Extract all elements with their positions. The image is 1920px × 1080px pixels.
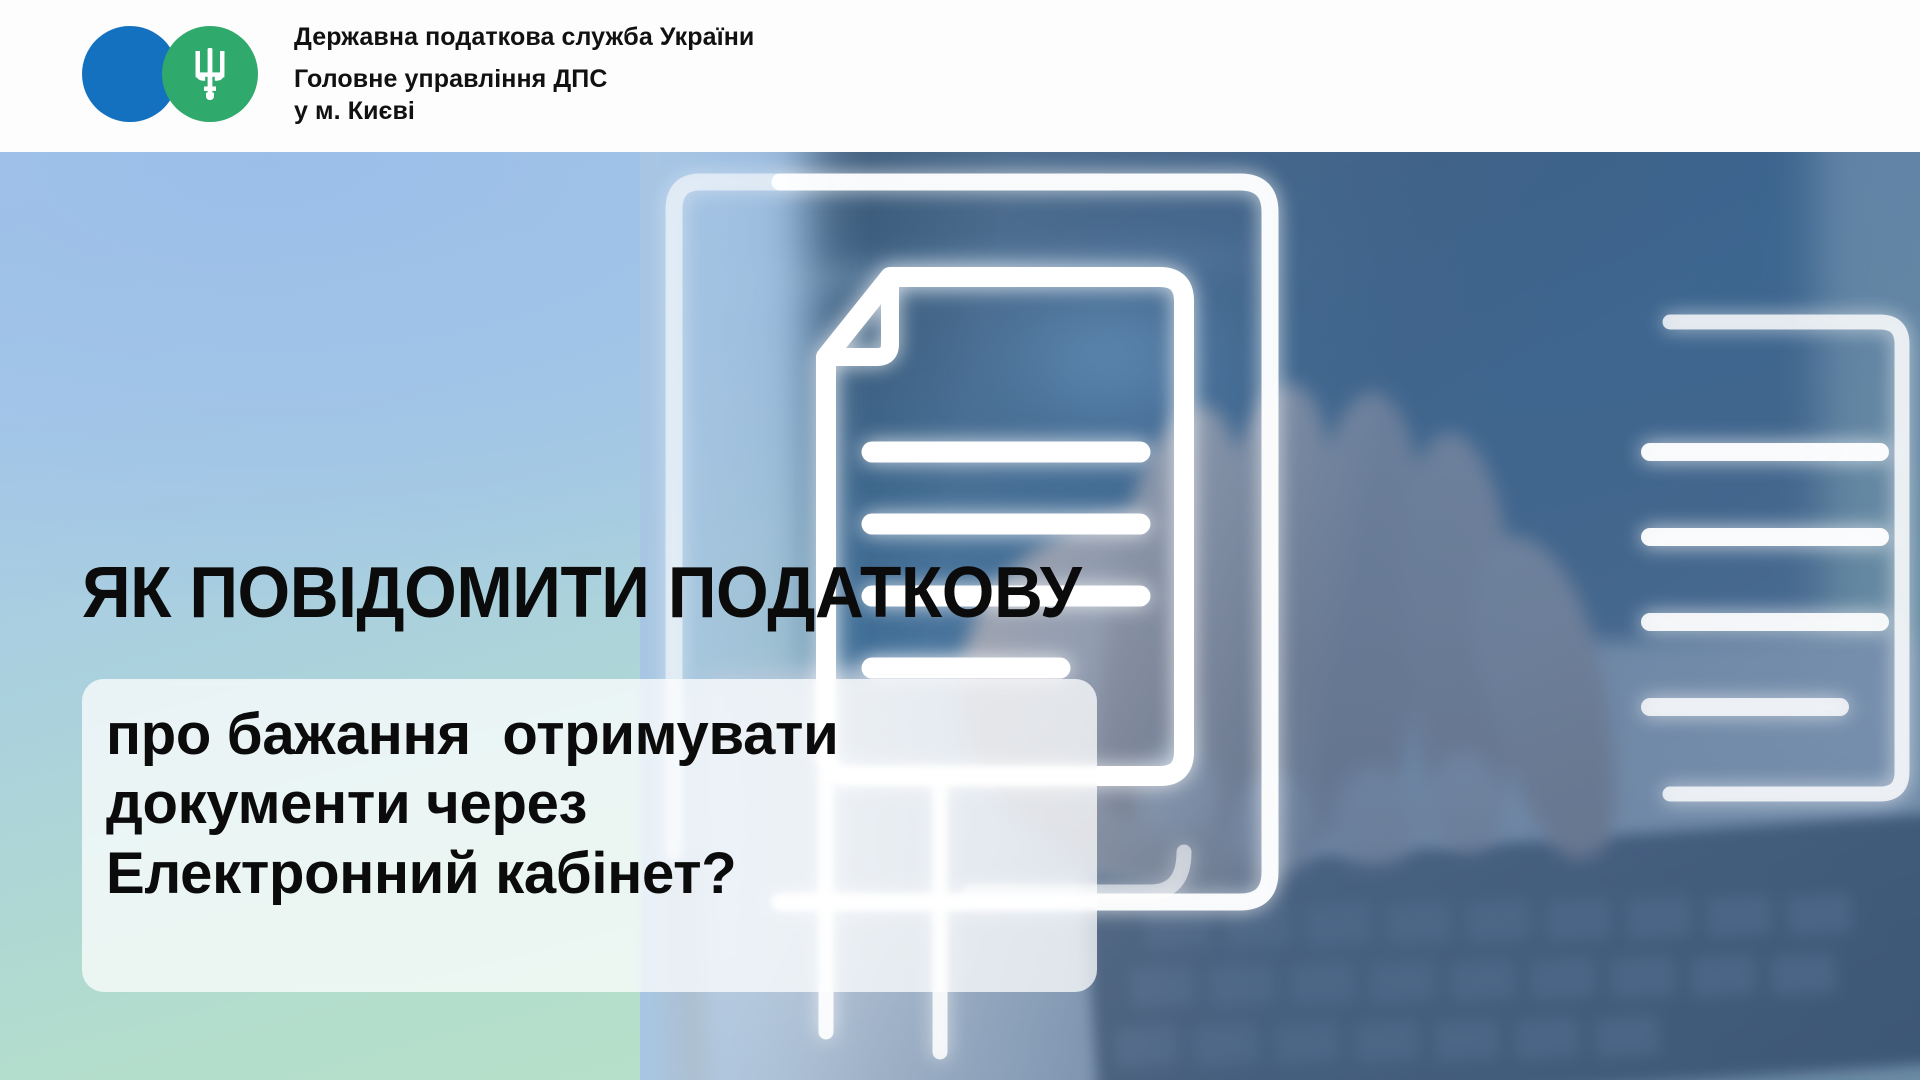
site-header: Державна податкова служба України Головн… [0,0,1920,152]
subtitle-line-2: документи через [106,769,1086,838]
slide-canvas: ЯК ПОВІДОМИТИ ПОДАТКОВУ про бажання отри… [0,0,1920,1080]
org-line-2: Головне управління ДПС [294,64,754,95]
org-line-1: Державна податкова служба України [294,22,754,53]
subtitle-line-3: Електронний кабінет? [106,839,1086,908]
ukrainian-trident-icon [186,46,234,104]
subtitle-card-text: про бажання отримувати документи через Е… [106,700,1086,908]
page-title: ЯК ПОВІДОМИТИ ПОДАТКОВУ [82,557,1081,629]
organization-logo [82,26,258,122]
background-stage: ЯК ПОВІДОМИТИ ПОДАТКОВУ про бажання отри… [0,152,1920,1080]
side-panel-outline-icon [1630,302,1920,862]
header-inner: Державна податкова служба України Головн… [0,22,754,127]
subtitle-line-1: про бажання отримувати [106,700,1086,769]
organization-name: Державна податкова служба України Головн… [294,22,754,127]
org-line-3: у м. Києві [294,96,754,127]
